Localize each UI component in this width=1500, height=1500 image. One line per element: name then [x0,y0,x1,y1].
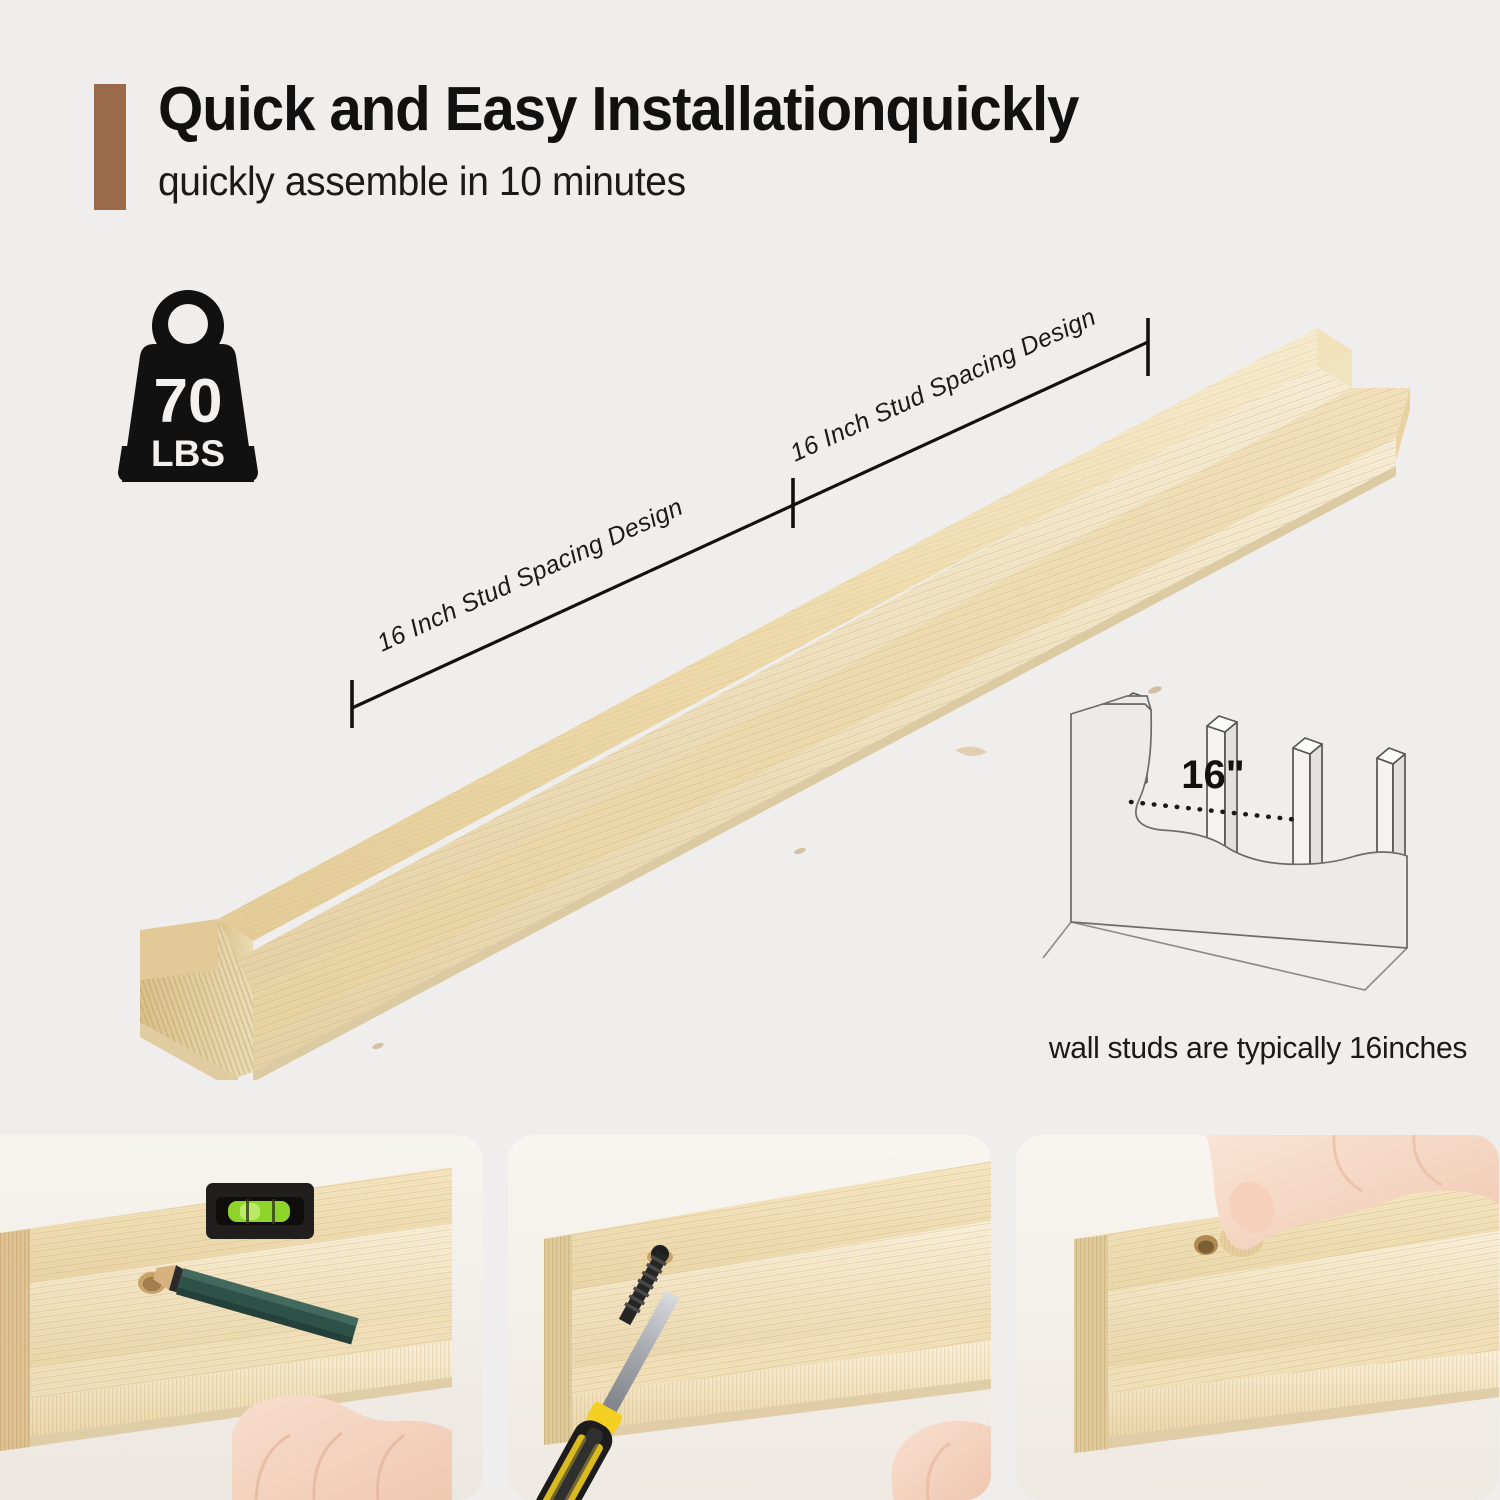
screw-hole [793,847,806,856]
measurement-label: 16" [1181,753,1244,797]
step-photo-3 [1016,1135,1499,1500]
page-title: Quick and Easy Installationquickly [158,74,1078,145]
floor-line-left [1043,922,1071,958]
stud-diagram-caption: wall studs are typically 16inches [1035,1030,1481,1066]
drywall-sheet [1071,704,1407,948]
header: Quick and Easy Installationquickly quick… [0,0,1500,240]
step-photo-1 [0,1135,483,1500]
accent-bar [94,84,126,210]
bubble-level-icon [206,1183,314,1239]
wood-knot [955,746,987,756]
step-photo-2 [508,1135,991,1500]
screw-hole [371,1042,384,1051]
page-subtitle: quickly assemble in 10 minutes [158,158,686,205]
wall-stud-diagram: 16" [1035,660,1455,1010]
stud-3 [1293,738,1322,884]
installation-steps-strip [0,1135,1500,1500]
